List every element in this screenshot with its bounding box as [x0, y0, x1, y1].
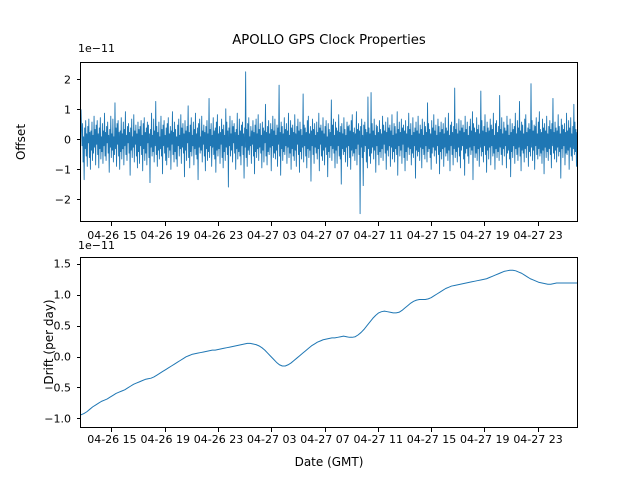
y-tick-mark	[77, 295, 81, 296]
x-tick-mark	[378, 428, 379, 432]
y-tick-label: 2	[64, 73, 71, 86]
x-tick-mark	[271, 428, 272, 432]
x-tick-label: 04-27 19	[460, 433, 509, 446]
y-tick-label: 1.0	[54, 289, 72, 302]
x-tick-label: 04-26 19	[140, 229, 189, 242]
x-axis-label: Date (GMT)	[80, 455, 578, 469]
y-tick-label: 1	[64, 103, 71, 116]
y-tick-label: 0.5	[54, 320, 72, 333]
y-tick-mark	[77, 357, 81, 358]
x-tick-label: 04-26 23	[194, 433, 243, 446]
x-tick-mark	[111, 428, 112, 432]
x-tick-label: 04-27 03	[247, 433, 296, 446]
x-tick-mark	[378, 222, 379, 226]
x-tick-label: 04-26 23	[194, 229, 243, 242]
x-tick-label: 04-27 07	[300, 433, 349, 446]
y-tick-label: −1	[55, 163, 71, 176]
y-tick-label: −2	[55, 193, 71, 206]
x-tick-mark	[325, 222, 326, 226]
drift-series-line	[81, 258, 577, 427]
x-tick-label: 04-27 11	[354, 433, 403, 446]
x-tick-label: 04-27 23	[513, 229, 562, 242]
x-tick-mark	[165, 222, 166, 226]
x-tick-mark	[538, 428, 539, 432]
drift-x-tick-labels: 04-26 1504-26 1904-26 2304-27 0304-27 07…	[0, 433, 640, 447]
x-tick-mark	[484, 222, 485, 226]
x-tick-mark	[111, 222, 112, 226]
y-tick-mark	[77, 387, 81, 388]
y-tick-mark	[77, 79, 81, 80]
x-tick-mark	[538, 222, 539, 226]
x-tick-mark	[165, 428, 166, 432]
offset-series-line	[81, 63, 577, 221]
y-tick-mark	[77, 109, 81, 110]
x-tick-mark	[431, 222, 432, 226]
drift-y-exponent-label: 1e−11	[78, 239, 115, 252]
offset-y-exponent-label: 1e−11	[78, 42, 115, 55]
drift-plot-area	[80, 257, 578, 428]
y-tick-label: 0	[64, 133, 71, 146]
x-tick-mark	[218, 428, 219, 432]
x-tick-label: 04-27 19	[460, 229, 509, 242]
y-tick-label: 0.0	[54, 351, 72, 364]
x-tick-label: 04-26 15	[87, 433, 136, 446]
drift-y-tick-labels: 1.51.00.50.0−0.5−1.0	[3, 257, 71, 428]
y-tick-mark	[77, 418, 81, 419]
x-tick-mark	[218, 222, 219, 226]
x-tick-mark	[325, 428, 326, 432]
x-tick-label: 04-27 03	[247, 229, 296, 242]
x-tick-label: 04-27 11	[354, 229, 403, 242]
drift-axis-label: Drift (per day)	[42, 267, 56, 417]
y-tick-label: 1.5	[54, 258, 72, 271]
x-tick-label: 04-27 23	[513, 433, 562, 446]
figure-canvas: APOLLO GPS Clock Properties 1e−11 210−1−…	[0, 0, 640, 480]
y-tick-mark	[77, 169, 81, 170]
x-tick-label: 04-27 15	[407, 229, 456, 242]
y-tick-mark	[77, 199, 81, 200]
y-tick-mark	[77, 264, 81, 265]
x-tick-label: 04-26 19	[140, 433, 189, 446]
y-tick-mark	[77, 139, 81, 140]
x-tick-label: 04-27 07	[300, 229, 349, 242]
page-title: APOLLO GPS Clock Properties	[80, 33, 578, 48]
y-tick-mark	[77, 326, 81, 327]
x-tick-mark	[271, 222, 272, 226]
offset-axis-label: Offset	[14, 92, 28, 192]
offset-plot-area	[80, 62, 578, 222]
x-tick-mark	[431, 428, 432, 432]
x-tick-label: 04-27 15	[407, 433, 456, 446]
x-tick-mark	[484, 428, 485, 432]
